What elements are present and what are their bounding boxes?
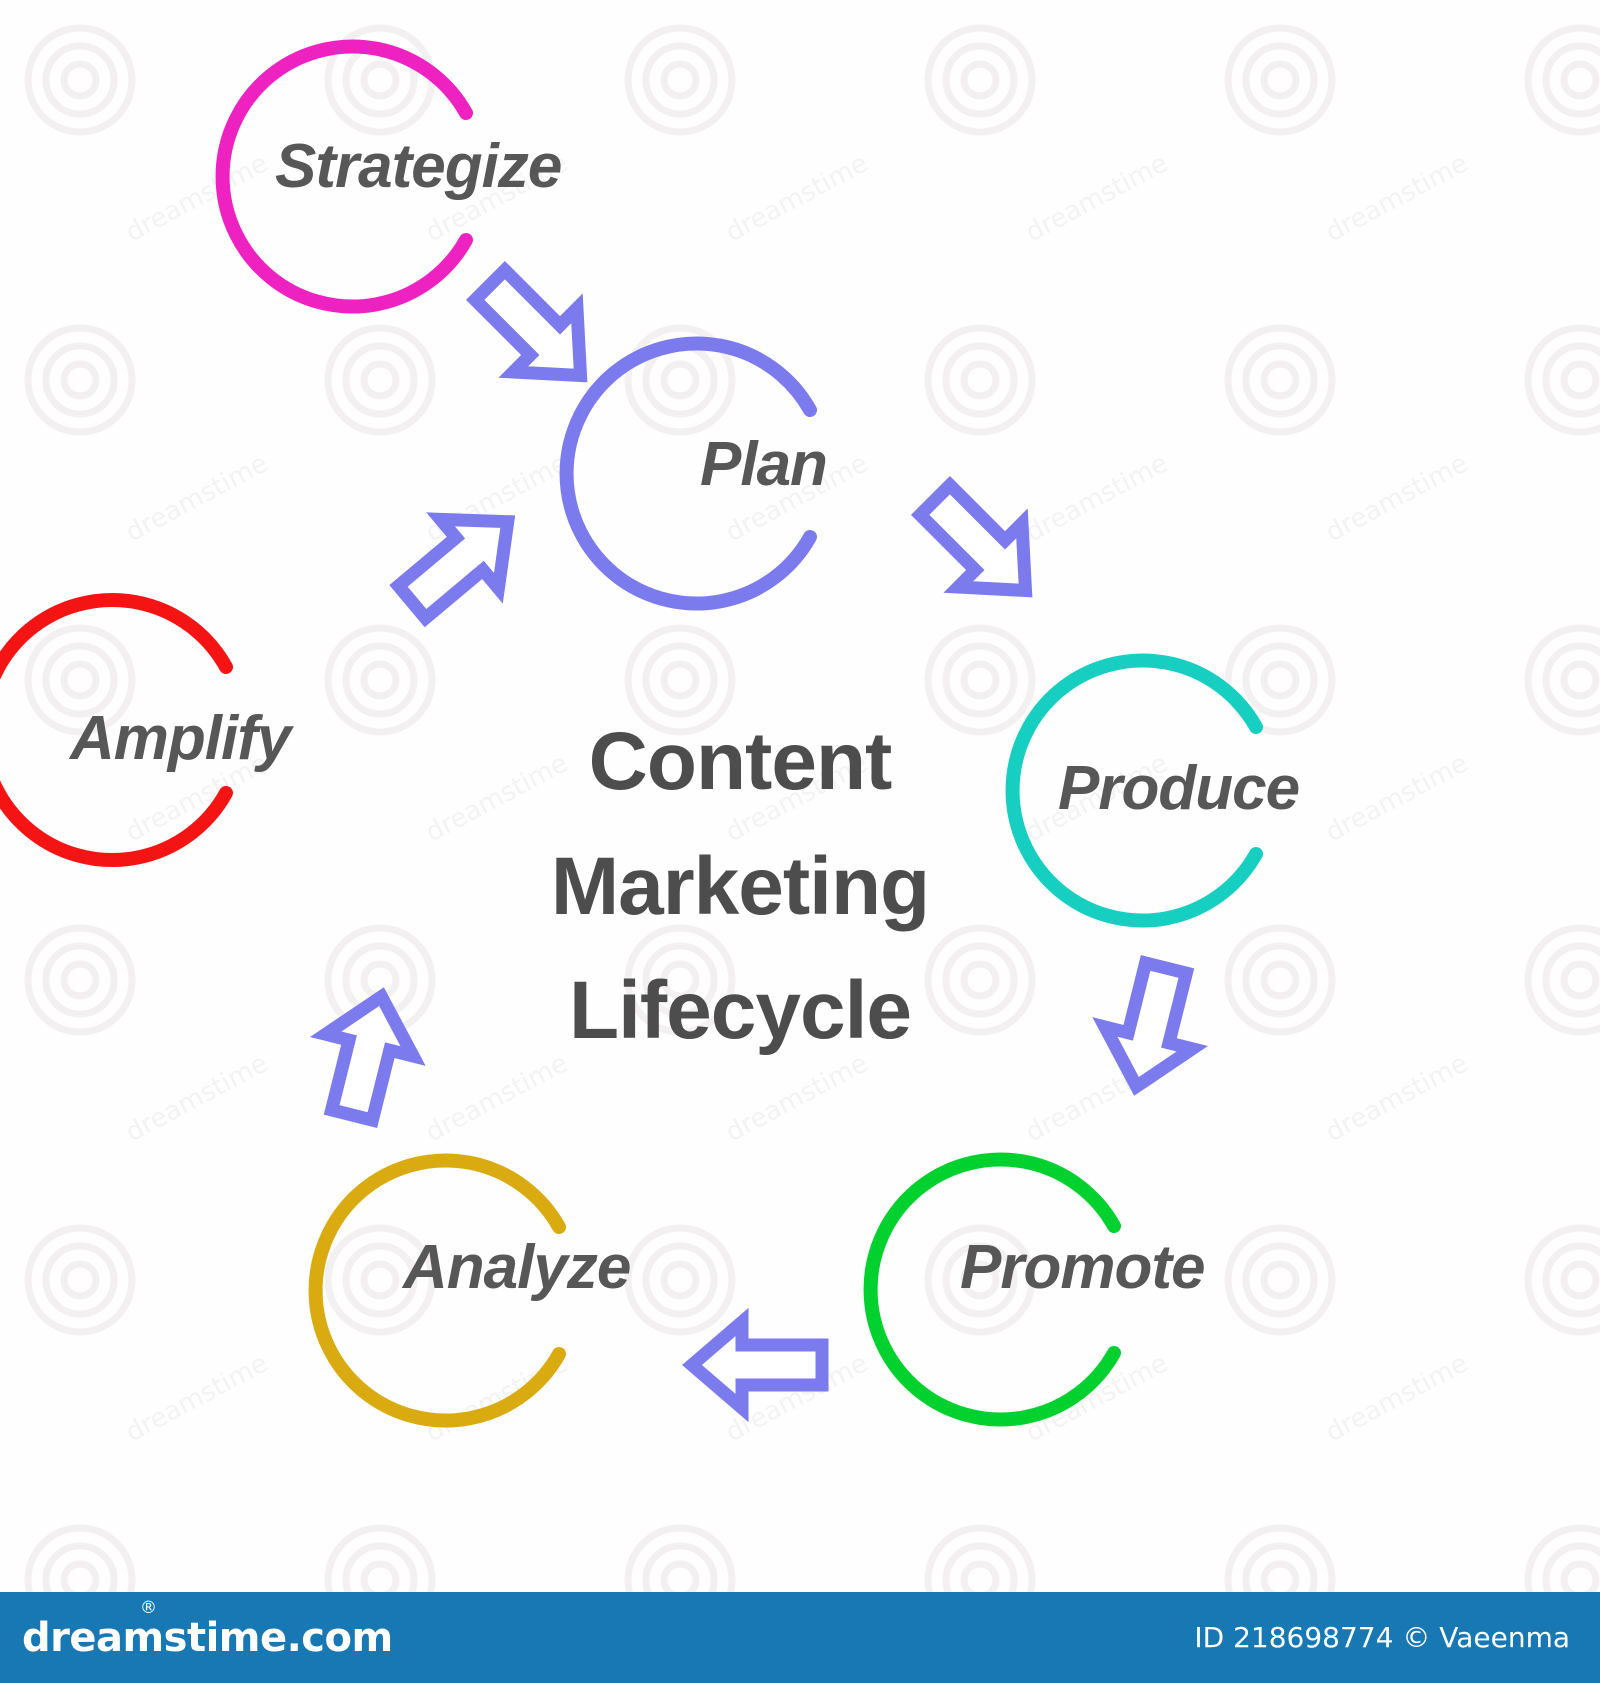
node-label-produce: Produce [1058,758,1299,820]
image-id-and-author: ID 218698774 © Vaeenma [1194,1621,1570,1654]
node-label-plan: Plan [700,434,827,496]
content-marketing-lifecycle-diagram: dreamstime [0,0,1600,1592]
center-title-line-2: Marketing [430,825,1050,950]
image-canvas: dreamstime [0,0,1600,1683]
dreamstime-logo-text: dreamstime.com [22,1615,393,1661]
diagram-center-title: Content Marketing Lifecycle [430,700,1050,1074]
arrow-promote-to-analyze[interactable] [692,1322,822,1408]
registered-trademark-icon: ® [140,1600,157,1617]
arrow-strategize-to-plan[interactable] [458,253,612,407]
arrow-amplify-to-plan[interactable] [383,487,537,636]
stock-photo-footer-bar: dreamstime.com ® ID 218698774 © Vaeenma [0,1592,1600,1683]
node-label-promote: Promote [960,1237,1204,1299]
arrow-analyze-to-amplify[interactable] [308,986,425,1126]
center-title-line-3: Lifecycle [430,949,1050,1074]
node-label-analyze: Analyze [403,1237,630,1299]
arrow-plan-to-produce[interactable] [903,468,1057,622]
center-title-line-1: Content [430,700,1050,825]
node-label-strategize: Strategize [275,136,561,198]
node-label-amplify: Amplify [70,708,290,770]
arrow-produce-to-promote[interactable] [1093,957,1210,1097]
dreamstime-logo[interactable]: dreamstime.com ® [22,1618,393,1658]
